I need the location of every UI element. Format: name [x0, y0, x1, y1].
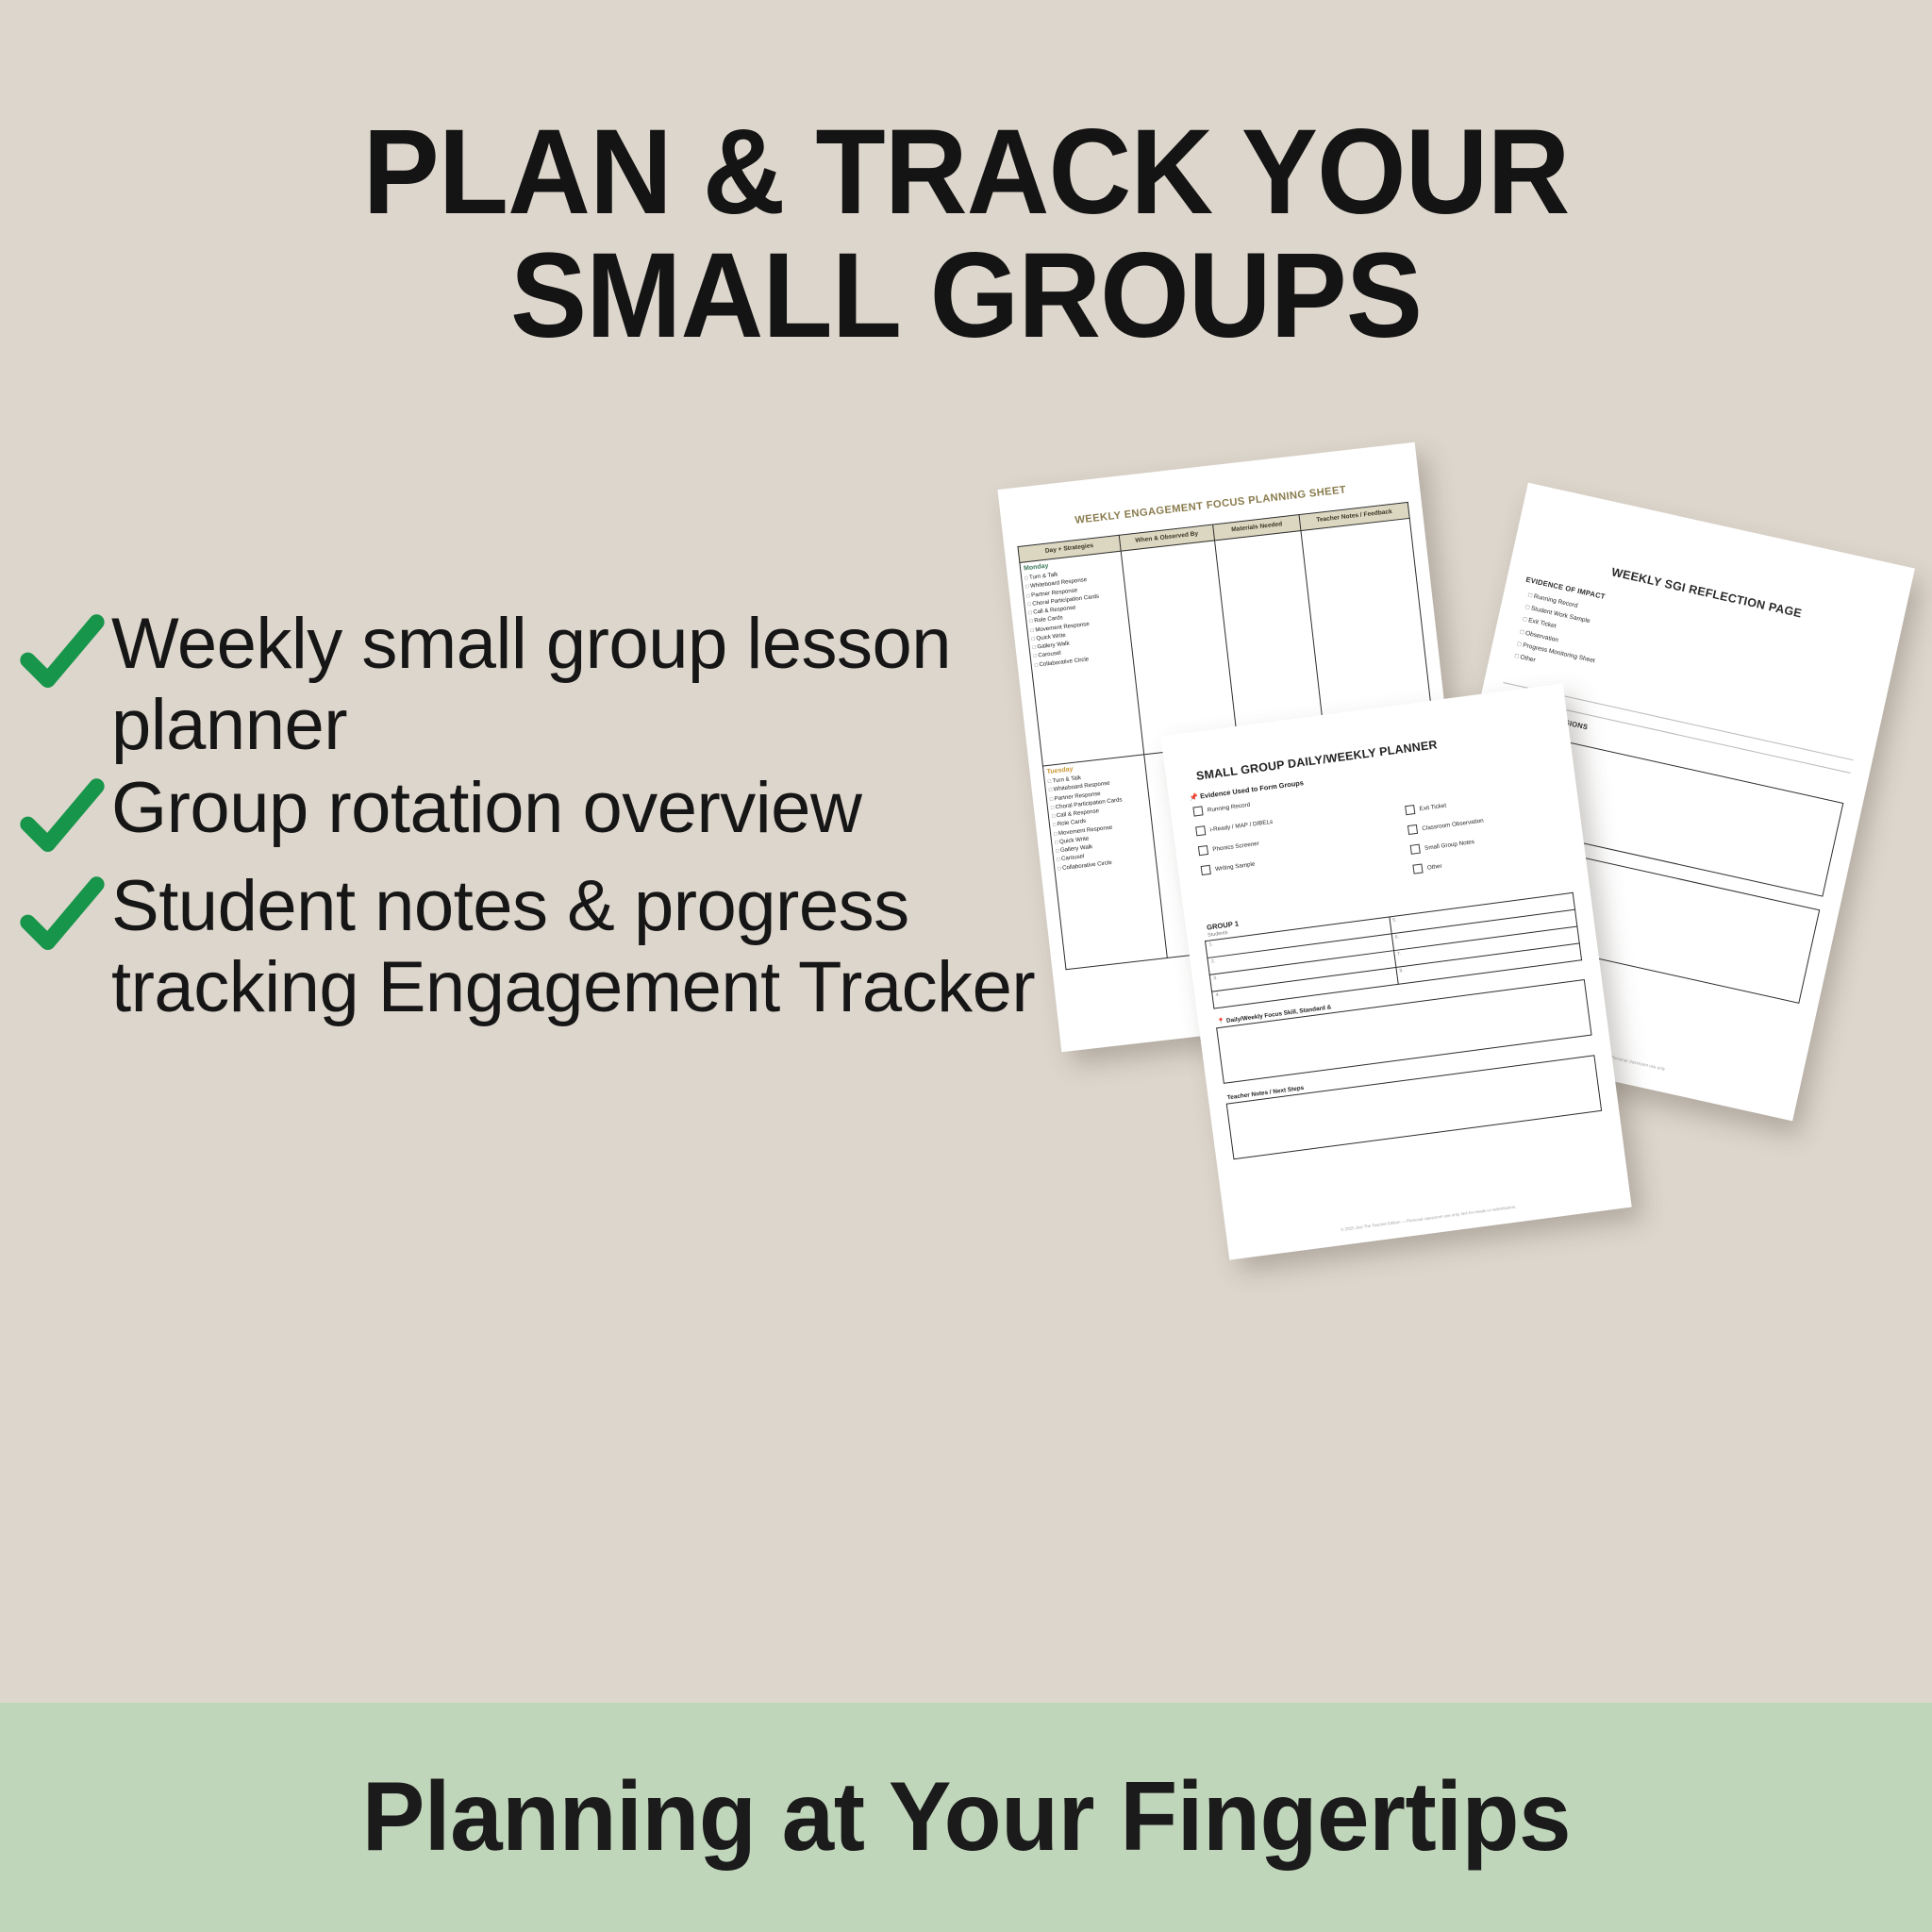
checkbox-column-left: Running Record i-Ready / MAP / DIBELs Ph…	[1192, 787, 1360, 912]
checkbox-icon[interactable]	[1410, 844, 1421, 855]
checkbox-label: i-Ready / MAP / DIBELs	[1209, 818, 1273, 833]
page-title: PLAN & TRACK YOUR SMALL GROUPS	[0, 111, 1932, 358]
bottom-banner: Planning at Your Fingertips	[0, 1703, 1932, 1932]
checkbox-icon[interactable]	[1412, 863, 1423, 874]
checkbox-icon[interactable]	[1192, 806, 1203, 816]
checkbox-label: Writing Sample	[1215, 860, 1256, 872]
feature-list: Weekly small group lesson planner Group …	[17, 604, 1045, 1030]
banner-text: Planning at Your Fingertips	[361, 1761, 1570, 1874]
document-footer: © 2025 Just The Teacher Edition — Person…	[1227, 1190, 1630, 1247]
strategy-list: Turn & Talk Whiteboard Response Partner …	[1024, 563, 1130, 670]
checkbox-label: Classroom Observation	[1422, 817, 1484, 832]
title-line-2: SMALL GROUPS	[48, 235, 1884, 358]
checkbox-label: Running Record	[1207, 801, 1250, 813]
feature-label: Weekly small group lesson planner	[108, 604, 1045, 766]
title-line-1: PLAN & TRACK YOUR	[48, 111, 1884, 235]
empty-cell	[1301, 519, 1433, 735]
checkbox-label: Phonics Screener	[1212, 840, 1259, 852]
pin-icon: 📍	[1217, 1018, 1225, 1025]
check-icon	[17, 609, 108, 700]
checkbox-icon[interactable]	[1407, 824, 1418, 835]
list-item: Weekly small group lesson planner	[17, 604, 1045, 766]
mockup-daily-planner: SMALL GROUP DAILY/WEEKLY PLANNER 📌 Evide…	[1160, 683, 1631, 1259]
pin-icon: 📌	[1189, 792, 1198, 802]
product-mockup-group: WEEKLY ENGAGEMENT FOCUS PLANNING SHEET D…	[1019, 453, 1932, 1491]
checkbox-label: Small Group Notes	[1424, 839, 1475, 852]
check-icon	[17, 774, 108, 864]
feature-label: Student notes & progress tracking Engage…	[108, 866, 1045, 1028]
list-item: Student notes & progress tracking Engage…	[17, 866, 1045, 1028]
checkbox-icon[interactable]	[1201, 865, 1211, 875]
checkbox-column-right: Exit Ticket Classroom Observation Small …	[1401, 759, 1569, 885]
strategy-list: Turn & Talk Whiteboard Response Partner …	[1047, 767, 1153, 874]
checkbox-label: Other	[1426, 862, 1442, 871]
check-icon	[17, 872, 108, 962]
list-item: Group rotation overview	[17, 768, 1045, 864]
feature-label: Group rotation overview	[108, 768, 861, 849]
checkbox-icon[interactable]	[1198, 845, 1208, 856]
checkbox-icon[interactable]	[1405, 805, 1415, 815]
checkbox-label: Exit Ticket	[1419, 802, 1446, 812]
checkbox-icon[interactable]	[1195, 825, 1206, 836]
